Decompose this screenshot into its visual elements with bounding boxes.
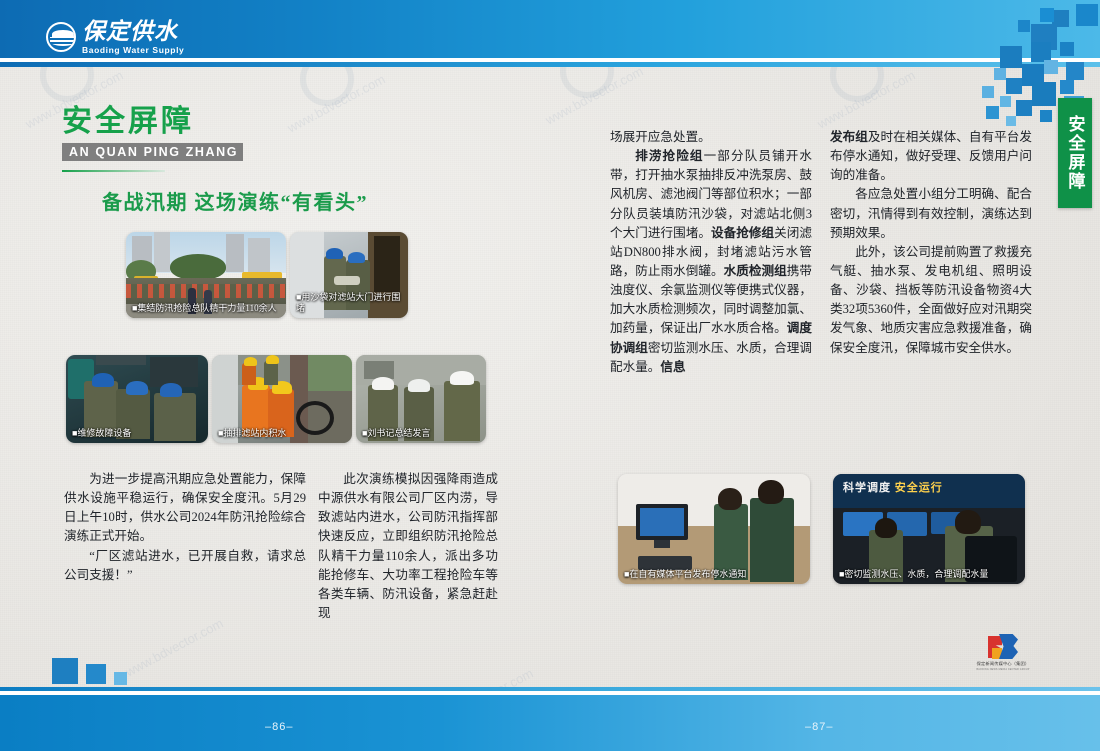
deco-square	[982, 86, 994, 98]
page-number-right: –87–	[805, 721, 833, 733]
brand-name-en: Baoding Water Supply	[82, 46, 184, 55]
photo-sandbag-caption: ■用沙袋对滤站大门进行围堵	[296, 292, 400, 313]
deco-square	[1000, 96, 1011, 107]
paragraph: “厂区滤站进水，已开展自救，请求总公司支援！”	[64, 547, 306, 585]
photo-caption: ■刘书记总结发言	[362, 428, 482, 439]
group-name: 信息	[660, 360, 685, 374]
article-column-3: 场展开应急处置。 排涝抢险组一部分队员铺开水带，打开抽水泵抽排反冲洗泵房、鼓风机…	[610, 128, 812, 377]
publisher-logo: 保定新闻传媒中心（集团） BAODING NEWS MEDIA CENTER G…	[978, 634, 1028, 674]
deco-square	[52, 658, 78, 684]
brand-logo: 保定供水 Baoding Water Supply	[46, 20, 184, 55]
photo-media-release[interactable]: ■在自有媒体平台发布停水通知	[618, 474, 810, 584]
photo-sandbag[interactable]: ■用沙袋对滤站大门进行围堵	[290, 232, 408, 318]
deco-square	[86, 664, 106, 684]
deco-square	[1031, 42, 1051, 62]
page-number-left: –86–	[265, 721, 293, 733]
photo-caption: ■密切监测水压、水质，合理调配水量	[839, 569, 1021, 580]
photo-helmet	[450, 371, 474, 385]
deco-square	[1016, 100, 1032, 116]
photo-helmet	[244, 357, 257, 366]
paragraph: 此次演练模拟因强降雨造成中源供水有限公司厂区内涝，导致滤站内进水，公司防汛指挥部…	[318, 470, 498, 623]
paragraph: 为进一步提高汛期应急处置能力，保障供水设施平稳运行，确保安全度汛。5月29日上午…	[64, 470, 306, 547]
deco-square	[1006, 116, 1016, 126]
deco-square	[1000, 46, 1022, 68]
photo-building	[154, 232, 170, 272]
photo-monitor-stand	[654, 540, 670, 548]
photo-person	[242, 363, 256, 385]
photo-helmet	[92, 373, 114, 387]
paragraph: 场展开应急处置。	[610, 128, 812, 147]
photo-speech-caption: ■刘书记总结发言	[362, 428, 430, 438]
publisher-b-icon	[986, 634, 1020, 660]
article-column-2: 此次演练模拟因强降雨造成中源供水有限公司厂区内涝，导致滤站内进水，公司防汛指挥部…	[318, 470, 498, 623]
photo-tree	[170, 254, 226, 280]
publisher-name-en: BAODING NEWS MEDIA CENTER GROUP	[976, 668, 1029, 671]
photo-helmet	[372, 377, 394, 390]
photo-helmet	[126, 381, 148, 395]
photo-assembly[interactable]: ■集结防汛抢险总队精干力量110余人	[126, 232, 286, 318]
photo-monitoring-caption: ■密切监测水压、水质，合理调配水量	[839, 569, 988, 579]
photo-door	[374, 236, 400, 292]
photo-head	[758, 480, 784, 504]
photo-building	[248, 238, 270, 272]
header-blue-rule	[0, 62, 1100, 67]
paragraph: 排涝抢险组一部分队员铺开水带，打开抽水泵抽排反冲洗泵房、鼓风机房、滤池阀门等部位…	[610, 147, 812, 377]
photo-helmet	[326, 248, 343, 259]
photo-head	[955, 510, 981, 534]
group-name: 发布组	[830, 130, 868, 144]
deco-square	[1066, 62, 1084, 80]
title-divider	[62, 170, 165, 172]
side-tab-security[interactable]: 安全屏障	[1058, 98, 1092, 208]
water-drop-circle-icon	[46, 22, 76, 52]
photo-caption: ■集结防汛抢险总队精干力量110余人	[132, 303, 282, 314]
group-name: 水质检测组	[724, 264, 787, 278]
photo-helmet	[160, 383, 182, 397]
deco-square	[114, 672, 127, 685]
publisher-name-cn: 保定新闻传媒中心（集团）	[977, 661, 1030, 667]
deco-square	[1060, 42, 1074, 56]
article-column-4: 发布组及时在相关媒体、自有平台发布停水通知，做好受理、反馈用户问询的准备。 各应…	[830, 128, 1032, 358]
deco-square	[1006, 78, 1022, 94]
photo-helmet	[266, 355, 279, 364]
deco-square	[986, 106, 999, 119]
side-tab-label: 安全屏障	[1063, 115, 1088, 191]
photo-assembly-caption: ■集结防汛抢险总队精干力量110余人	[132, 303, 277, 313]
page-title-pinyin: AN QUAN PING ZHANG	[62, 143, 243, 161]
photo-banner: 科学调度 安全运行	[843, 478, 1013, 500]
photo-repair-caption: ■维修故障设备	[72, 428, 131, 438]
photo-person	[264, 361, 278, 385]
page-title: 安全屏障	[62, 107, 243, 137]
group-name: 设备抢修组	[711, 226, 774, 240]
logo-shape-blue	[999, 634, 1018, 659]
section-title-block: 安全屏障 AN QUAN PING ZHANG	[62, 107, 243, 172]
photo-caption: ■在自有媒体平台发布停水通知	[624, 569, 806, 580]
deco-square	[1076, 4, 1098, 26]
photo-screen	[640, 508, 684, 536]
deco-square	[1040, 110, 1052, 122]
photo-sandbag-object	[334, 276, 360, 285]
photo-media-release-caption: ■在自有媒体平台发布停水通知	[624, 569, 746, 579]
photo-outdoor	[308, 355, 352, 391]
paragraph: 各应急处置小组分工明确、配合密切，汛情得到有效控制，演练达到预期效果。	[830, 185, 1032, 242]
paragraph: 发布组及时在相关媒体、自有平台发布停水通知，做好受理、反馈用户问询的准备。	[830, 128, 1032, 185]
deco-square	[1040, 8, 1054, 22]
photo-caption: ■维修故障设备	[72, 428, 204, 439]
photo-pumping[interactable]: ■抽排滤站内积水	[212, 355, 352, 443]
photo-head	[718, 488, 742, 510]
photo-caption: ■用沙袋对滤站大门进行围堵	[296, 292, 404, 315]
group-name: 排涝抢险组	[635, 149, 703, 163]
photo-monitoring[interactable]: 科学调度 安全运行 ■密切监测水压、水质，合理调配水量	[833, 474, 1025, 584]
deco-square	[1044, 60, 1058, 74]
photo-helmet	[408, 379, 430, 392]
photo-pumping-caption: ■抽排滤站内积水	[218, 428, 286, 438]
article-column-1: 为进一步提高汛期应急处置能力，保障供水设施平稳运行，确保安全度汛。5月29日上午…	[64, 470, 306, 585]
photo-head	[875, 518, 897, 538]
photo-speech[interactable]: ■刘书记总结发言	[356, 355, 486, 443]
photo-pipe	[96, 355, 146, 365]
footer-band	[0, 695, 1100, 751]
deco-square	[1018, 20, 1030, 32]
deco-square	[1032, 82, 1056, 106]
deco-square	[1060, 80, 1074, 94]
paragraph: 此外，该公司提前购置了救援充气艇、抽水泵、发电机组、照明设备、沙袋、挡板等防汛设…	[830, 243, 1032, 358]
article-headline: 备战汛期 这场演练“有看头”	[102, 186, 432, 215]
photo-helmet	[348, 252, 365, 263]
photo-repair[interactable]: ■维修故障设备	[66, 355, 208, 443]
deco-square	[994, 68, 1006, 80]
photo-building	[226, 234, 244, 272]
photo-caption: ■抽排滤站内积水	[218, 428, 348, 439]
magazine-page: www.bdvector.com www.bdvector.com www.bd…	[0, 0, 1100, 751]
brand-name-cn: 保定供水	[82, 20, 184, 43]
